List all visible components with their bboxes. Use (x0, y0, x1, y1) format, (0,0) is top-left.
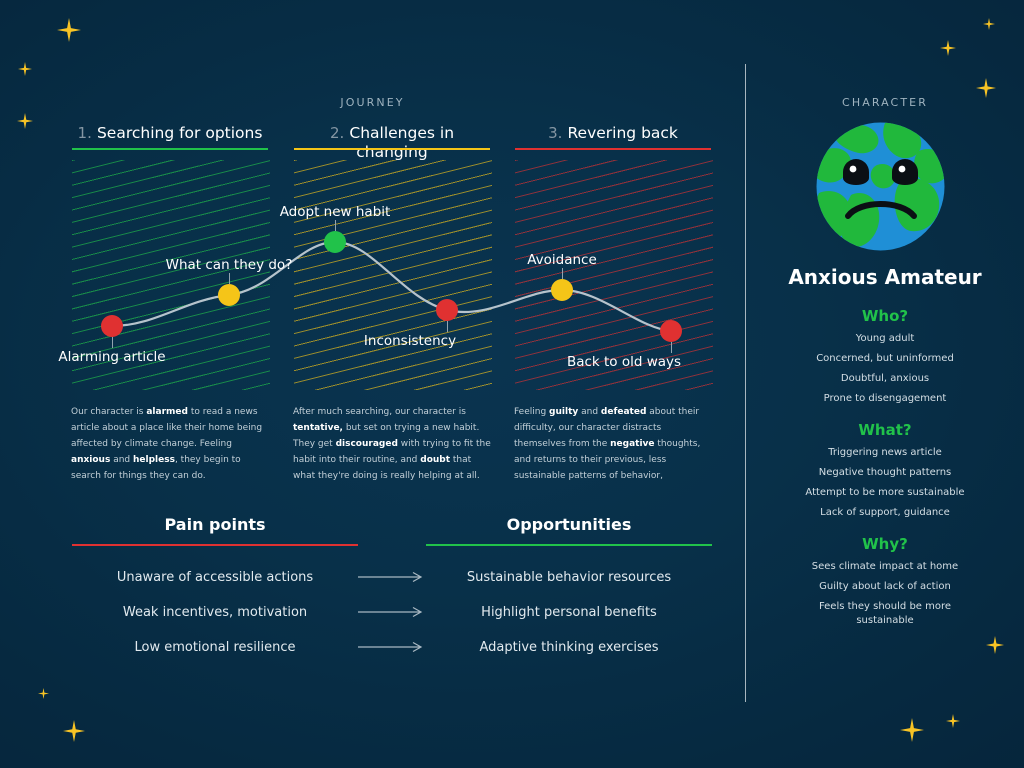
opportunities-underline (426, 544, 712, 546)
journey-step-1-title: Searching for options (97, 124, 262, 142)
opportunity-item-3: Adaptive thinking exercises (426, 640, 712, 655)
character-why-item-3: Feels they should be more sustainable (805, 600, 965, 628)
journey-node-label-1: Alarming article (12, 349, 212, 365)
journey-step-3-title: Revering back (567, 124, 677, 142)
character-name: Anxious Amateur (746, 265, 1024, 289)
journey-node-3 (324, 231, 346, 253)
character-eyebrow: CHARACTER (746, 96, 1024, 109)
journey-node-label-4: Inconsistency (310, 333, 510, 349)
arrow-right-icon-3 (358, 641, 428, 653)
journey-step-1-number: 1. (78, 124, 92, 142)
journey-node-label-6: Back to old ways (524, 354, 724, 370)
journey-node-1 (101, 315, 123, 337)
journey-node-4 (436, 299, 458, 321)
character-what-item-3: Attempt to be more sustainable (746, 486, 1024, 500)
pain-point-item-3: Low emotional resilience (72, 640, 358, 655)
node-tick-1 (112, 337, 113, 348)
journey-step-1[interactable]: 1. Searching for options (72, 123, 268, 142)
journey-step-3-number: 3. (548, 124, 562, 142)
node-tick-2 (229, 273, 230, 284)
opportunity-item-2: Highlight personal benefits (426, 605, 712, 620)
pain-point-item-1: Unaware of accessible actions (72, 570, 358, 585)
character-what-item-4: Lack of support, guidance (746, 506, 1024, 520)
character-section-heading-why: Why? (746, 535, 1024, 553)
node-tick-6 (671, 342, 672, 353)
journey-step-3[interactable]: 3. Revering back (515, 123, 711, 142)
journey-node-6 (660, 320, 682, 342)
pain-points-title: Pain points (72, 515, 358, 534)
character-why-item-1: Sees climate impact at home (746, 560, 1024, 574)
journey-node-5 (551, 279, 573, 301)
journey-paragraph-2: After much searching, our character is t… (293, 404, 492, 484)
journey-node-label-3: Adopt new habit (235, 204, 435, 220)
journey-node-label-2: What can they do? (129, 257, 329, 273)
pain-point-item-2: Weak incentives, motivation (72, 605, 358, 620)
journey-paragraph-1: Our character is alarmed to read a news … (71, 404, 270, 484)
character-who-item-2: Concerned, but uninformed (746, 352, 1024, 366)
character-what-item-2: Negative thought patterns (746, 466, 1024, 480)
character-who-item-4: Prone to disengagement (746, 392, 1024, 406)
journey-node-2 (218, 284, 240, 306)
sad-earth-icon (815, 121, 946, 252)
journey-node-label-5: Avoidance (462, 252, 662, 268)
pain-points-underline (72, 544, 358, 546)
character-panel: CHARACTER Anxi (746, 0, 1024, 768)
journey-step-2-number: 2. (330, 124, 344, 142)
opportunity-item-1: Sustainable behavior resources (426, 570, 712, 585)
node-tick-4 (447, 321, 448, 332)
journey-eyebrow: JOURNEY (0, 96, 745, 109)
journey-paragraph-3: Feeling guilty and defeated about their … (514, 404, 713, 484)
character-who-item-3: Doubtful, anxious (746, 372, 1024, 386)
character-section-heading-what: What? (746, 421, 1024, 439)
journey-panel: JOURNEY 1. Searching for options 2. Chal… (0, 0, 745, 768)
arrow-right-icon-1 (358, 571, 428, 583)
character-section-heading-who: Who? (746, 307, 1024, 325)
node-tick-3 (335, 220, 336, 231)
infographic-canvas: JOURNEY 1. Searching for options 2. Chal… (0, 0, 1024, 768)
arrow-right-icon-2 (358, 606, 428, 618)
character-what-item-1: Triggering news article (746, 446, 1024, 460)
opportunities-title: Opportunities (426, 515, 712, 534)
character-why-item-2: Guilty about lack of action (746, 580, 1024, 594)
node-tick-5 (562, 268, 563, 279)
character-who-item-1: Young adult (746, 332, 1024, 346)
